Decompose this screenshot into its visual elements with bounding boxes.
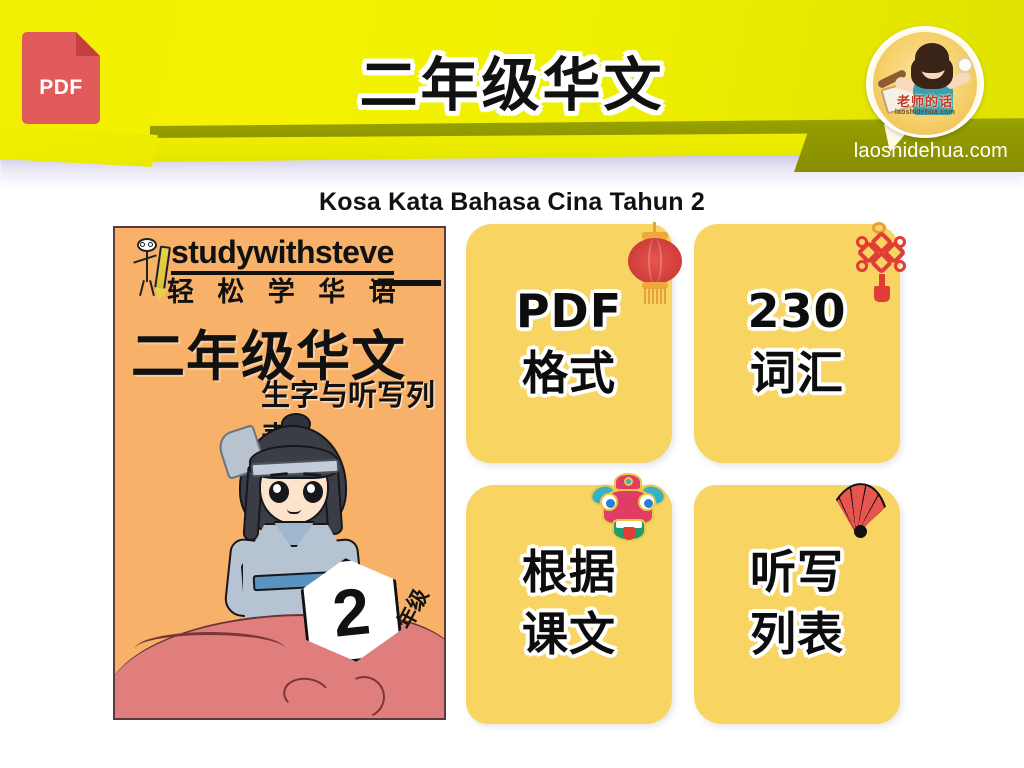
logo-teacher-hair (915, 43, 949, 73)
grade-number: 2 (303, 572, 400, 651)
feature-card-line1: 230 (747, 284, 846, 338)
feature-card-text: 听写 列表 (694, 541, 900, 665)
logo-lightbulb-icon (957, 57, 973, 73)
feature-card-pdf-format[interactable]: PDF 格式 (466, 224, 672, 463)
feature-card-line2: 课文 (466, 603, 672, 665)
logo-bubble: 老师的话 laoshidehua.com (866, 26, 984, 138)
logo-url-text: laoshidehua.com (869, 109, 981, 116)
feature-card-text: 230 词汇 (694, 280, 900, 404)
site-logo-badge[interactable]: 老师的话 laoshidehua.com (866, 26, 984, 152)
feature-card-line1: 听写 (750, 545, 844, 599)
poster-page: laoshidehua.com PDF 二年级华文 老师的话 (0, 0, 1024, 768)
feature-cards-grid: PDF 格式 230 词汇 (466, 224, 900, 724)
feature-card-based-on-textbook[interactable]: 根据 课文 (466, 485, 672, 724)
folding-fan-icon (826, 481, 896, 537)
lion-dance-head-icon (592, 475, 666, 549)
feature-card-line1: PDF (516, 284, 622, 338)
logo-chinese-text: 老师的话 (869, 91, 981, 110)
book-cover-image[interactable]: studywithsteve 轻 松 学 华 语 二年级华文 生字与听写列表 (113, 226, 446, 720)
feature-card-line2: 词汇 (694, 342, 900, 404)
page-subtitle: Kosa Kata Bahasa Cina Tahun 2 (0, 188, 1024, 217)
feature-card-text: 根据 课文 (466, 541, 672, 665)
header-banner: laoshidehua.com PDF 二年级华文 老师的话 (0, 0, 1024, 190)
feature-card-line2: 列表 (694, 603, 900, 665)
book-brand-chinese: 轻 松 学 华 语 (167, 270, 403, 309)
feature-card-text: PDF 格式 (466, 280, 672, 404)
book-brand-rule (373, 280, 441, 286)
feature-card-line1: 根据 (522, 545, 616, 599)
book-brand-name: studywithsteve (171, 234, 394, 275)
feature-card-line2: 格式 (466, 342, 672, 404)
feature-card-vocabulary-count[interactable]: 230 词汇 (694, 224, 900, 463)
feature-card-dictation-list[interactable]: 听写 列表 (694, 485, 900, 724)
